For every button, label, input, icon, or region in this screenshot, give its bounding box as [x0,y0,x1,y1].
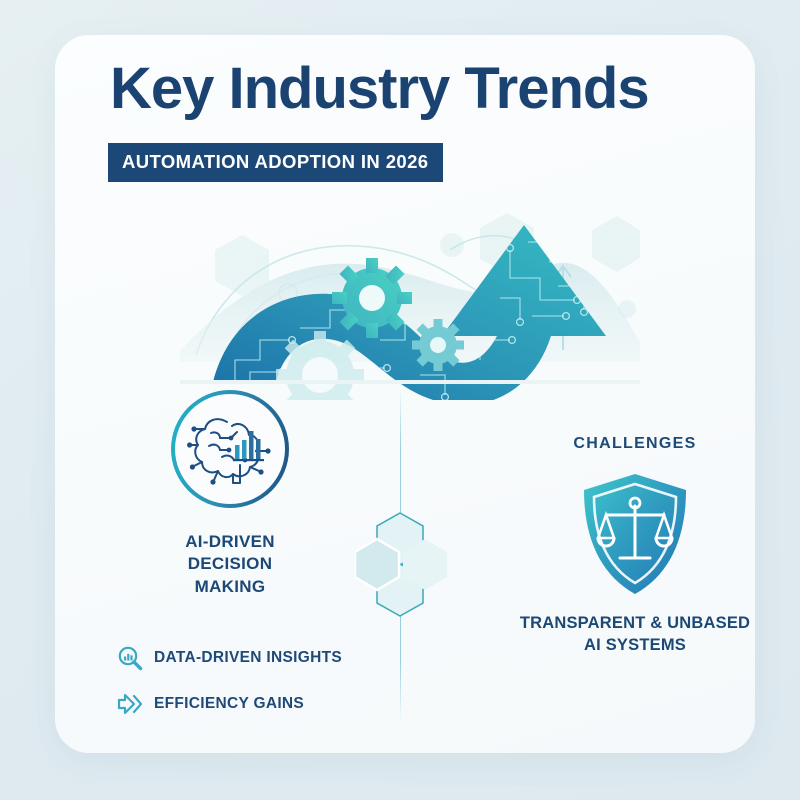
growth-arrow-circuit-gears-illustration [180,190,640,400]
page-title: Key Industry Trends [110,55,649,122]
right-column-label: TRANSPARENT & UNBASED AI SYSTEMS [475,612,755,657]
right-column: CHALLENGES [475,435,755,657]
ai-brain-circuit-barchart-icon [187,409,273,489]
gear-main-icon [332,258,412,338]
subtitle-badge: AUTOMATION ADOPTION IN 2026 [108,143,443,182]
left-column-label: AI-DRIVEN DECISION MAKING [95,531,365,598]
list-item: DATA-DRIVEN INSIGHTS [110,635,400,681]
magnifier-barchart-icon [110,645,150,671]
left-label-line-3: MAKING [95,576,365,598]
gear-small-icon [412,319,464,371]
arrow-right-efficiency-icon [110,691,150,717]
right-label-line-1: TRANSPARENT & UNBASED [475,612,755,634]
bullet-list: DATA-DRIVEN INSIGHTS EFFICIENCY GAINS [110,635,400,727]
left-label-line-2: DECISION [95,553,365,575]
ai-brain-icon-ring [171,390,289,508]
infographic-card: Key Industry Trends AUTOMATION ADOPTION … [55,35,755,753]
challenges-heading: CHALLENGES [475,435,755,453]
right-label-line-2: AI SYSTEMS [475,634,755,656]
list-item: EFFICIENCY GAINS [110,681,400,727]
list-item-label: DATA-DRIVEN INSIGHTS [150,649,342,667]
left-column: AI-DRIVEN DECISION MAKING [95,390,365,598]
shield-balance-scales-icon [475,470,755,598]
left-label-line-1: AI-DRIVEN [95,531,365,553]
list-item-label: EFFICIENCY GAINS [150,695,304,713]
hexagon-cluster-decoration [355,505,455,625]
infographic-canvas: Key Industry Trends AUTOMATION ADOPTION … [0,0,800,800]
